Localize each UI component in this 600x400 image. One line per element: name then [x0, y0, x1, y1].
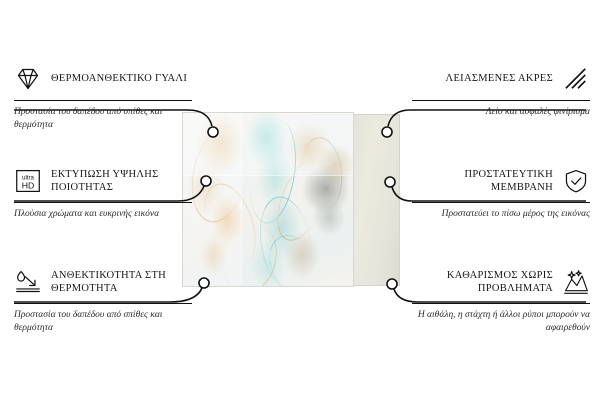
feature-title: ΚΑΘΑΡΙΣΜΟΣ ΧΩΡΙΣ ΠΡΟΒΛΗΜΑΤΑ: [412, 269, 553, 296]
divider: [412, 202, 590, 203]
feature-description: Λείο και ασφαλές φινίρισμα: [412, 106, 590, 119]
polished-edges-icon: [562, 66, 590, 92]
ultra-hd-icon: ultra HD: [14, 168, 42, 194]
feature-title: ΠΡΟΣΤΑΤΕΥΤΙΚΗ ΜΕΜΒΡΑΝΗ: [412, 168, 553, 195]
feature-block-polished-edges: ΛΕΙΑΣΜΕΝΕΣ ΑΚΡΕΣ Λείο και ασφαλές φινίρι…: [412, 62, 590, 119]
feature-description: Προστασία του δαπέδου από σπίθες και θερ…: [14, 309, 192, 334]
divider: [14, 100, 192, 101]
feature-block-heat-resistant-glass: ΘΕΡΜΟΑΝΘΕΚΤΙΚΟ ΓΥΑΛΙ Προστασία του δαπέδ…: [14, 62, 192, 132]
feature-header: ΚΑΘΑΡΙΣΜΟΣ ΧΩΡΙΣ ΠΡΟΒΛΗΜΑΤΑ: [412, 265, 590, 299]
feature-header: ΑΝΘΕΚΤΙΚΟΤΗΤΑ ΣΤΗ ΘΕΡΜΟΤΗΤΑ: [14, 265, 192, 299]
feature-description: Προστατεύει το πίσω μέρος της εικόνας: [412, 208, 590, 221]
divider: [14, 303, 192, 304]
heat-resistance-icon: [14, 269, 42, 295]
product-front-glass: [182, 112, 354, 287]
feature-header: ΛΕΙΑΣΜΕΝΕΣ ΑΚΡΕΣ: [412, 62, 590, 96]
svg-text:HD: HD: [22, 180, 35, 190]
feature-description: Πλούσια χρώματα και ευκρινής εικόνα: [14, 208, 192, 221]
feature-description: Η αιθάλη, η στάχτη ή άλλοι ρύποι μπορούν…: [412, 309, 590, 334]
diamond-icon: [14, 66, 42, 92]
feature-block-heat-durability: ΑΝΘΕΚΤΙΚΟΤΗΤΑ ΣΤΗ ΘΕΡΜΟΤΗΤΑ Προστασία το…: [14, 265, 192, 335]
product-feature-infographic: ΘΕΡΜΟΑΝΘΕΚΤΙΚΟ ΓΥΑΛΙ Προστασία του δαπέδ…: [0, 0, 600, 400]
feature-title: ΛΕΙΑΣΜΕΝΕΣ ΑΚΡΕΣ: [446, 72, 553, 85]
marble-pattern: [183, 113, 353, 286]
feature-title: ΘΕΡΜΟΑΝΘΕΚΤΙΚΟ ΓΥΑΛΙ: [51, 72, 187, 85]
feature-block-high-quality-print: ultra HD ΕΚΤΥΠΩΣΗ ΥΨΗΛΗΣ ΠΟΙΟΤΗΤΑΣ Πλούσ…: [14, 164, 192, 221]
feature-description: Προστασία του δαπέδου από σπίθες και θερ…: [14, 106, 192, 131]
feature-header: ultra HD ΕΚΤΥΠΩΣΗ ΥΨΗΛΗΣ ΠΟΙΟΤΗΤΑΣ: [14, 164, 192, 198]
product-image: [182, 112, 400, 287]
divider: [412, 100, 590, 101]
easy-clean-icon: [562, 269, 590, 295]
feature-header: ΘΕΡΜΟΑΝΘΕΚΤΙΚΟ ΓΥΑΛΙ: [14, 62, 192, 96]
feature-title: ΑΝΘΕΚΤΙΚΟΤΗΤΑ ΣΤΗ ΘΕΡΜΟΤΗΤΑ: [51, 269, 192, 296]
product-back-panel: [348, 114, 400, 286]
divider: [14, 202, 192, 203]
divider: [412, 303, 590, 304]
feature-header: ΠΡΟΣΤΑΤΕΥΤΙΚΗ ΜΕΜΒΡΑΝΗ: [412, 164, 590, 198]
feature-title: ΕΚΤΥΠΩΣΗ ΥΨΗΛΗΣ ΠΟΙΟΤΗΤΑΣ: [51, 168, 192, 195]
shield-check-icon: [562, 168, 590, 194]
feature-block-protective-film: ΠΡΟΣΤΑΤΕΥΤΙΚΗ ΜΕΜΒΡΑΝΗ Προστατεύει το πί…: [412, 164, 590, 221]
feature-block-easy-cleaning: ΚΑΘΑΡΙΣΜΟΣ ΧΩΡΙΣ ΠΡΟΒΛΗΜΑΤΑ Η αιθάλη, η …: [412, 265, 590, 335]
